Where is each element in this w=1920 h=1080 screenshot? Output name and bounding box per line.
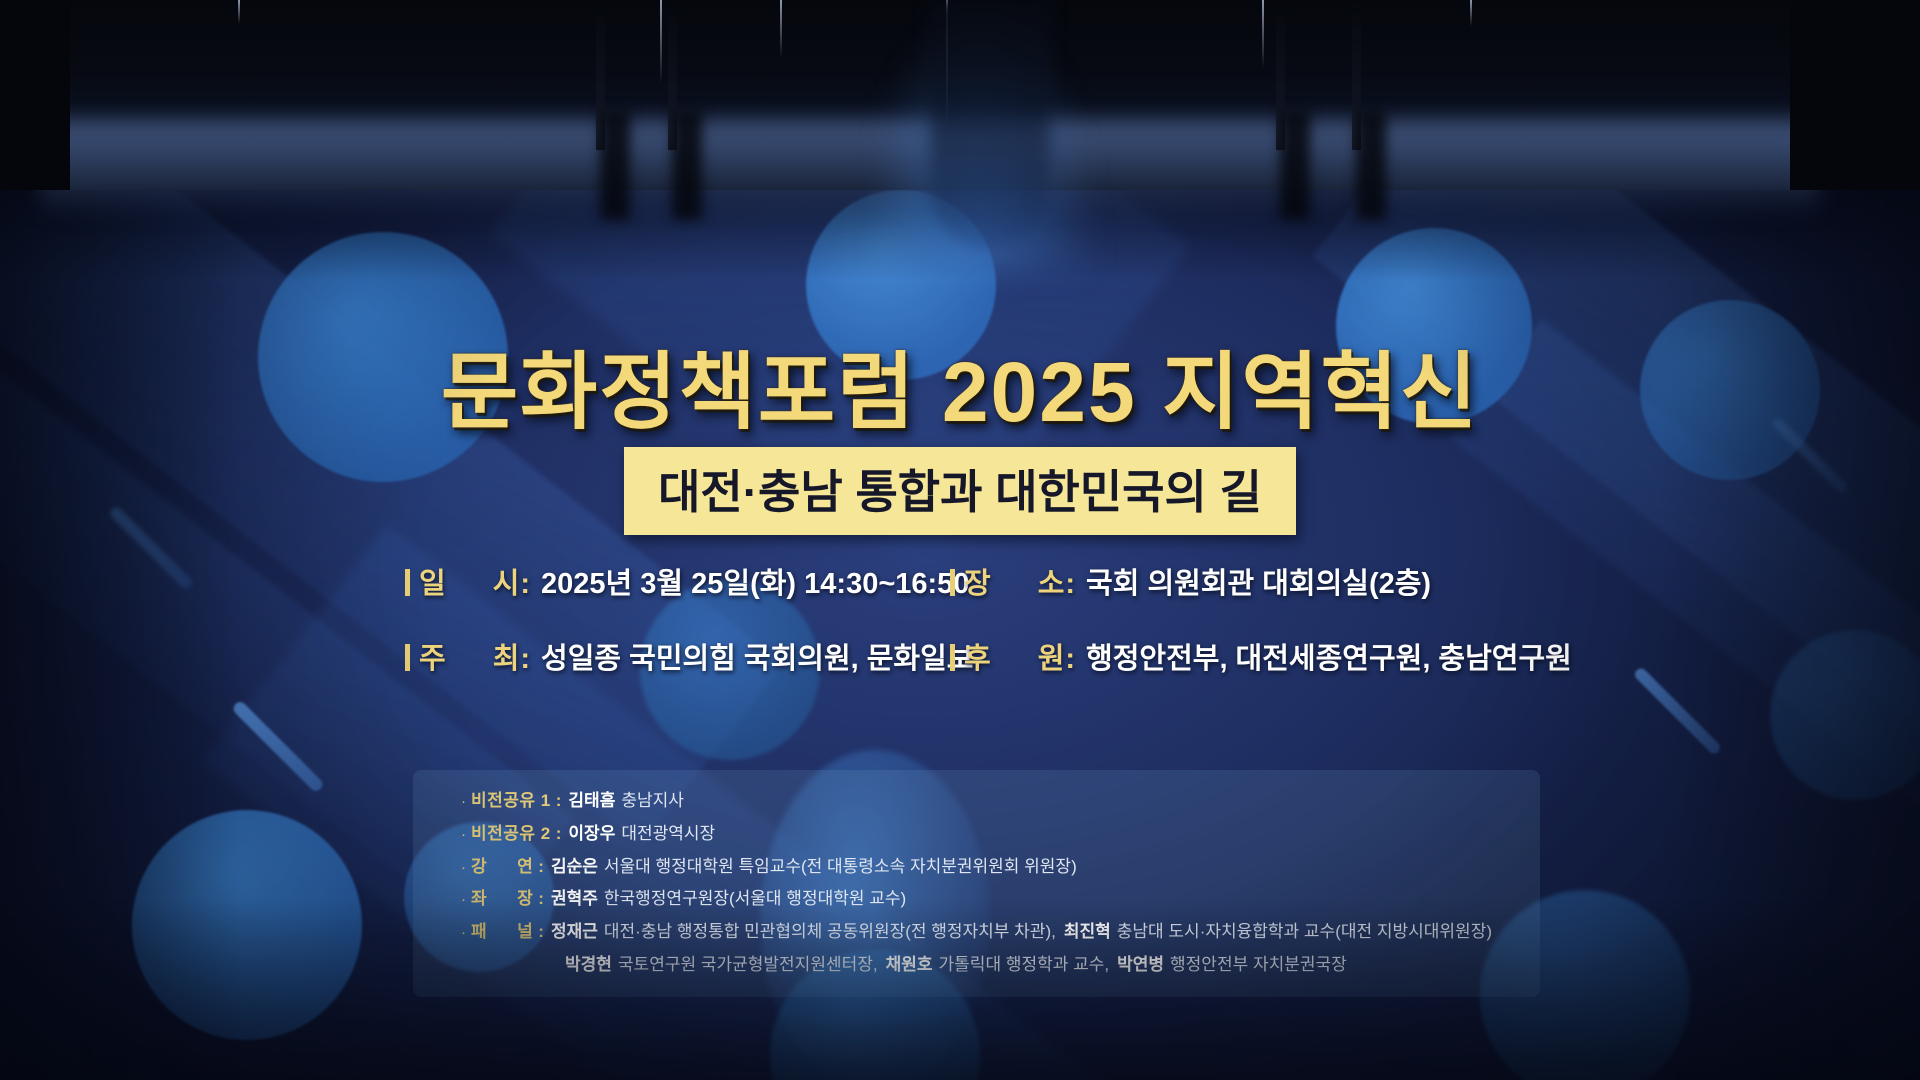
info-row: 주최: 성일종 국민의힘 국회의원, 문화일보 후원: 행정안전부, 대전세종연… bbox=[405, 635, 1605, 677]
info-label: 후원: bbox=[964, 635, 1076, 677]
ceiling-dark-left bbox=[0, 0, 70, 190]
program-row-vision-1: · 비전공유 1 : 김태흠 충남지사 bbox=[413, 790, 1540, 812]
program-person-title: 충남지사 bbox=[621, 790, 684, 811]
bullet-dot-icon: · bbox=[461, 859, 466, 878]
program-colon: : bbox=[556, 790, 562, 811]
program-person-title: 대전광역시장 bbox=[621, 823, 715, 844]
hanging-wire bbox=[238, 0, 240, 24]
bullet-dot-icon: · bbox=[461, 826, 466, 845]
info-label-tail: 최 bbox=[493, 643, 521, 675]
banner-left-shadow bbox=[0, 150, 240, 1080]
forum-info-block: 일시: 2025년 3월 25일(화) 14:30~16:50 장소: 국회 의… bbox=[405, 560, 1605, 710]
program-label: 비전공유 1 bbox=[471, 790, 551, 811]
forum-subtitle: 대전·충남 통합과 대한민국의 길 bbox=[624, 447, 1296, 535]
info-value: 성일종 국민의힘 국회의원, 문화일보 bbox=[541, 635, 973, 677]
stage-backdrop-banner: 문화정책포럼 2025 지역혁신 대전·충남 통합과 대한민국의 길 일시: 2… bbox=[0, 150, 1920, 1080]
program-colon: : bbox=[556, 823, 562, 844]
hanging-wire bbox=[1470, 0, 1472, 26]
info-venue: 장소: 국회 의원회관 대회의실(2층) bbox=[950, 560, 1431, 602]
info-datetime: 일시: 2025년 3월 25일(화) 14:30~16:50 bbox=[405, 560, 950, 602]
program-label-tail: 연 bbox=[517, 857, 533, 876]
program-person-name: 김태흠 bbox=[568, 790, 615, 811]
info-label-tail: 시 bbox=[493, 568, 521, 600]
gold-bar-icon bbox=[405, 644, 410, 671]
center-curtain-fold bbox=[930, 0, 1050, 250]
gold-bar-icon bbox=[950, 644, 955, 671]
info-row: 일시: 2025년 3월 25일(화) 14:30~16:50 장소: 국회 의… bbox=[405, 560, 1605, 602]
info-label-head: 장 bbox=[964, 568, 992, 600]
banner-right-shadow bbox=[1660, 150, 1920, 1080]
program-person-name: 김순은 bbox=[551, 856, 598, 877]
program-row-lecture: · 강연 : 김순은 서울대 행정대학원 특임교수(전 대통령소속 자치분권위원… bbox=[413, 856, 1540, 878]
info-value: 국회 의원회관 대회의실(2층) bbox=[1086, 560, 1431, 602]
forum-subtitle-wrap: 대전·충남 통합과 대한민국의 길 bbox=[0, 447, 1920, 535]
program-person-title: 서울대 행정대학원 특임교수(전 대통령소속 자치분권위원회 위원장) bbox=[604, 856, 1077, 877]
info-host: 주최: 성일종 국민의힘 국회의원, 문화일보 bbox=[405, 635, 950, 677]
gold-bar-icon bbox=[405, 569, 410, 596]
program-label: 비전공유 2 bbox=[471, 823, 551, 844]
ceiling-shadow bbox=[672, 110, 702, 220]
info-label: 주최: bbox=[419, 635, 531, 677]
info-label-head: 주 bbox=[419, 643, 447, 675]
info-label-tail: 원 bbox=[1038, 643, 1066, 675]
info-label-tail: 소 bbox=[1038, 568, 1066, 600]
ceiling-shadow bbox=[1356, 110, 1386, 220]
info-label-head: 일 bbox=[419, 568, 447, 600]
program-label-head: 강 bbox=[471, 857, 487, 876]
program-label: 강연 bbox=[471, 856, 533, 877]
ceiling-shadow bbox=[600, 110, 630, 220]
screenshot-root: 문화정책포럼 2025 지역혁신 대전·충남 통합과 대한민국의 길 일시: 2… bbox=[0, 0, 1920, 1080]
info-sponsor: 후원: 행정안전부, 대전세종연구원, 충남연구원 bbox=[950, 635, 1572, 677]
ceiling-dark-right bbox=[1790, 0, 1920, 190]
program-row-vision-2: · 비전공유 2 : 이장우 대전광역시장 bbox=[413, 823, 1540, 845]
hanging-wire bbox=[1262, 0, 1264, 68]
program-colon: : bbox=[538, 856, 544, 877]
ceiling-shadow bbox=[1280, 110, 1310, 220]
bullet-dot-icon: · bbox=[461, 793, 466, 812]
info-value: 행정안전부, 대전세종연구원, 충남연구원 bbox=[1086, 635, 1572, 677]
info-label: 장소: bbox=[964, 560, 1076, 602]
hanging-wire bbox=[780, 0, 782, 58]
info-value: 2025년 3월 25일(화) 14:30~16:50 bbox=[541, 560, 969, 602]
banner-bottom-shadow bbox=[0, 900, 1920, 1080]
forum-title: 문화정책포럼 2025 지역혁신 bbox=[0, 325, 1920, 446]
hanging-wire bbox=[660, 0, 662, 84]
info-label-head: 후 bbox=[964, 643, 992, 675]
info-label: 일시: bbox=[419, 560, 531, 602]
gold-bar-icon bbox=[950, 569, 955, 596]
program-person-name: 이장우 bbox=[568, 823, 615, 844]
